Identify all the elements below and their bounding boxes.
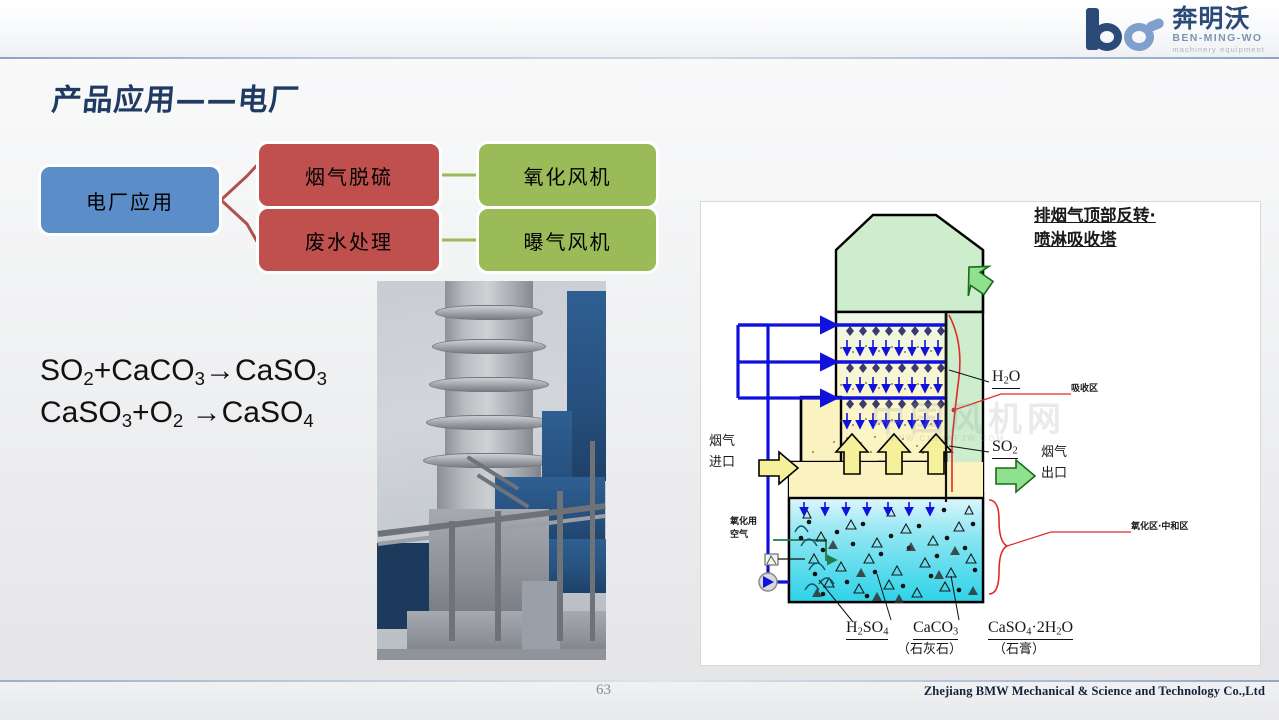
label-caco3: CaCO3 <box>913 618 958 640</box>
label-flue-gas-inlet-line2: 进口 <box>709 455 735 471</box>
label-h2so4: H2SO4 <box>846 618 888 640</box>
photo-column <box>495 511 501 641</box>
flow-node-aeration-fan[interactable]: 曝气风机 <box>479 209 656 271</box>
label-absorption-zone: 吸收区 <box>1071 384 1098 395</box>
photo-platform-ring <box>432 339 546 354</box>
equation-line-2: CaSO3+O2 →CaSO4 <box>40 392 327 434</box>
photo-column <box>590 441 595 641</box>
label-flue-gas-inlet-line1: 烟气 <box>709 434 735 450</box>
label-flue-gas-outlet-line2: 出口 <box>1041 466 1067 482</box>
label-oxidation-air-line2: 空气 <box>730 530 748 541</box>
page-number: 63 <box>596 682 611 699</box>
label-limestone-note: （石灰石） <box>897 642 962 658</box>
logo-o-tail <box>1145 17 1165 33</box>
logo-text-block: 奔明沃 BEN-MING-WO machinery equipment <box>1172 6 1265 54</box>
absorption-tower-diagram: 中国风机网 WWW.CHINAFJW.COM 排烟气顶部反转· 喷淋吸收塔 烟气… <box>700 201 1261 666</box>
flow-node-wastewater[interactable]: 废水处理 <box>259 209 439 271</box>
eq1-plus: + <box>94 354 112 387</box>
bo-monogram-icon <box>1084 8 1168 52</box>
diagram-title-line2: 喷淋吸收塔 <box>1034 230 1117 251</box>
eq2-reactant-b: O <box>150 396 173 429</box>
eq1-reactant-a-sub: 2 <box>83 368 93 389</box>
label-caso4: CaSO4·2H2O <box>988 618 1073 640</box>
photo-platform-ring <box>435 305 543 320</box>
photo-column <box>557 491 563 641</box>
eq2-reactant-b-sub: 2 <box>173 410 183 431</box>
eq2-plus: + <box>132 396 150 429</box>
flow-node-desulfurization[interactable]: 烟气脱硫 <box>259 144 439 206</box>
eq2-reactant-a-sub: 3 <box>122 410 132 431</box>
logo-chinese-name: 奔明沃 <box>1172 6 1250 32</box>
eq2-product: CaSO <box>222 396 304 429</box>
photo-platform-ring <box>429 377 549 392</box>
eq1-reactant-b-sub: 3 <box>195 368 205 389</box>
eq1-product: CaSO <box>235 354 317 387</box>
label-flue-gas-outlet-line1: 烟气 <box>1041 445 1067 461</box>
flow-node-oxidation-fan[interactable]: 氧化风机 <box>479 144 656 206</box>
equation-line-1: SO2+CaCO3→CaSO3 <box>40 350 327 392</box>
logo-english-name: BEN-MING-WO <box>1172 32 1262 45</box>
eq1-reactant-b: CaCO <box>111 354 194 387</box>
photo-dark-structure <box>377 543 431 585</box>
diagram-title-line1: 排烟气顶部反转· <box>1034 206 1156 227</box>
footer-divider-line <box>0 680 1279 682</box>
photo-blue-building <box>567 291 606 481</box>
chemical-equations: SO2+CaCO3→CaSO3 CaSO3+O2 →CaSO4 <box>40 350 327 434</box>
label-gypsum-note: （石膏） <box>993 642 1045 658</box>
absorption-tower-svg <box>701 202 1261 666</box>
logo-tagline: machinery equipment <box>1172 45 1265 54</box>
logo-b-bowl <box>1092 23 1122 51</box>
flow-node-root[interactable]: 电厂应用 <box>41 167 219 233</box>
photo-column <box>449 521 455 641</box>
eq1-reactant-a: SO <box>40 354 83 387</box>
eq2-product-sub: 4 <box>303 410 313 431</box>
flow-chart: 电厂应用 烟气脱硫 废水处理 氧化风机 曝气风机 <box>0 0 700 290</box>
label-so2: SO2 <box>992 437 1018 459</box>
eq1-product-sub: 3 <box>317 368 327 389</box>
photo-ground <box>377 649 606 660</box>
company-logo: 奔明沃 BEN-MING-WO machinery equipment <box>1057 4 1265 56</box>
eq1-arrow: → <box>205 354 235 387</box>
eq2-arrow: → <box>192 396 222 429</box>
label-oxidation-neutralization-zone: 氧化区·中和区 <box>1131 522 1188 533</box>
photo-platform-ring <box>423 453 555 468</box>
eq2-reactant-a: CaSO <box>40 396 122 429</box>
label-oxidation-air-line1: 氧化用 <box>730 517 757 528</box>
photo-platform-ring <box>426 415 552 430</box>
plant-photo <box>377 281 606 660</box>
label-h2o: H2O <box>992 367 1020 389</box>
footer-company-name: Zhejiang BMW Mechanical & Science and Te… <box>924 684 1265 699</box>
